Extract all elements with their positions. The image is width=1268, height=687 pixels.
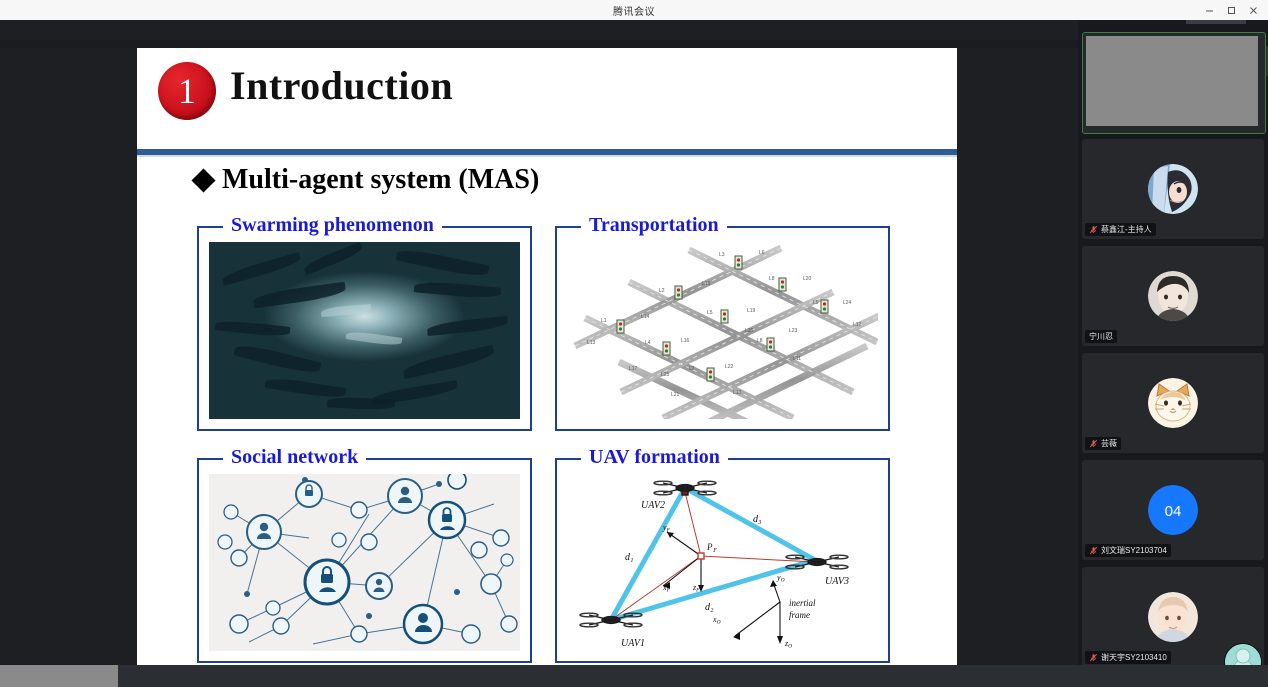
avatar-initials-text: 04 [1165, 503, 1182, 520]
window-controls [1198, 0, 1264, 20]
panel-title-swarming: Swarming phenomenon [223, 214, 442, 237]
bullet-row: Multi-agent system (MAS) [195, 164, 539, 196]
avatar-initials: 04 [1148, 485, 1198, 535]
tile-participant-1[interactable]: 蔡鑫江-主持人 [1082, 139, 1264, 239]
name-chip: 芸薇 [1085, 437, 1121, 450]
svg-text:L3: L3 [719, 252, 725, 258]
header-rule-light [137, 155, 957, 157]
svg-text:L21: L21 [671, 392, 680, 398]
shared-slide: 1 Introduction Multi-agent system (MAS) [137, 48, 957, 678]
svg-text:L7: L7 [689, 366, 695, 372]
svg-text:L11: L11 [793, 356, 801, 362]
panel-swarming-body [209, 242, 520, 419]
panel-social [197, 458, 532, 663]
mic-muted-icon [1089, 439, 1098, 448]
avatar [1148, 164, 1198, 214]
svg-text:L13: L13 [587, 340, 596, 346]
svg-text:L26: L26 [745, 328, 754, 334]
participant-name: 谢天宇SY2103410 [1101, 652, 1167, 663]
svg-text:L16: L16 [681, 338, 690, 344]
tile-participant-4[interactable]: 04 刘文瑞SY2103704 [1082, 460, 1264, 560]
svg-text:L6: L6 [759, 250, 765, 256]
svg-text:L4: L4 [645, 340, 651, 346]
svg-text:L9: L9 [813, 300, 819, 306]
svg-text:L8: L8 [769, 276, 775, 282]
close-icon[interactable] [1242, 0, 1264, 20]
maximize-icon[interactable] [1220, 0, 1242, 20]
yf-label: yF [662, 523, 671, 534]
svg-text:L24: L24 [843, 300, 852, 306]
svg-text:L10: L10 [733, 390, 742, 396]
panel-social-body [209, 474, 520, 651]
panel-title-social: Social network [223, 446, 366, 469]
svg-text:L8: L8 [757, 338, 763, 344]
bottom-bar [0, 665, 1268, 687]
d1-label: d₁ [625, 552, 633, 563]
tile-participant-3[interactable]: 芸薇 [1082, 353, 1264, 453]
stage-top-strip [0, 40, 1078, 48]
svg-text:L5: L5 [707, 310, 713, 316]
panel-grid: Swarming phenomenon [197, 206, 897, 661]
panel-uav: UAV2 UAV1 UAV3 d₁ d₂ d₃ P F xF yF zF [555, 458, 890, 663]
inertial-frame-label-line2: frame [789, 610, 810, 620]
svg-text:L17: L17 [629, 366, 638, 372]
mic-muted-icon [1089, 225, 1098, 234]
tile-participant-2[interactable]: 宁川忍 [1082, 246, 1264, 346]
rail-scroll-indicator[interactable] [1186, 20, 1246, 24]
name-chip: 谢天宇SY2103410 [1085, 651, 1171, 664]
svg-text:L23: L23 [789, 328, 798, 334]
slide-header: 1 Introduction [137, 48, 957, 154]
mic-muted-icon [1089, 546, 1098, 555]
avatar [1148, 378, 1198, 428]
tencent-meeting-window: 腾讯会议 1 Introduction M [0, 0, 1268, 687]
uav3-label: UAV3 [825, 576, 849, 587]
svg-text:L2: L2 [659, 288, 665, 294]
inertial-frame-label-line1: inertial [789, 598, 816, 608]
svg-text:L14: L14 [641, 314, 650, 320]
bullet-text: Multi-agent system (MAS) [222, 164, 539, 196]
participant-name: 刘文瑞SY2103704 [1101, 545, 1167, 556]
participant-name: 宁川忍 [1089, 331, 1113, 342]
tile-shared-screen[interactable] [1082, 32, 1266, 134]
fish-school-image [209, 242, 520, 419]
pf-label: P F [706, 542, 717, 554]
xo-label: xO [712, 615, 721, 626]
mic-muted-icon [1089, 653, 1098, 662]
svg-text:L20: L20 [803, 276, 812, 282]
window-title: 腾讯会议 [613, 3, 655, 18]
d2-label: d₂ [705, 602, 714, 613]
zo-label: zO [784, 639, 792, 650]
minimize-icon[interactable] [1198, 0, 1220, 20]
slide-title: Introduction [230, 62, 453, 109]
avatar [1148, 271, 1198, 321]
title-bar: 腾讯会议 [0, 0, 1268, 20]
panel-transportation-body: L3L6 L15L8L20 L2L19L9L24 L14L5L12 L1L26L… [567, 242, 878, 419]
section-number-badge: 1 [158, 62, 216, 120]
svg-text:L12: L12 [853, 322, 862, 328]
name-chip: 宁川忍 [1085, 330, 1117, 343]
svg-text:L1: L1 [601, 318, 607, 324]
uav1-label: UAV1 [621, 638, 645, 649]
zf-label: zF [692, 583, 700, 594]
meeting-stage: 1 Introduction Multi-agent system (MAS) [0, 20, 1078, 665]
name-chip: 蔡鑫江-主持人 [1085, 223, 1156, 236]
participant-rail: ⊢ 蔡鑫江-主持人 [1078, 20, 1268, 687]
panel-swarming [197, 226, 532, 431]
avatar [1148, 592, 1198, 642]
participant-name: 芸薇 [1101, 438, 1117, 449]
social-network-graph [209, 474, 520, 651]
panel-title-uav: UAV formation [581, 446, 728, 469]
svg-text:L22: L22 [725, 364, 734, 370]
panel-title-transportation: Transportation [581, 214, 727, 237]
panel-transportation: L3L6 L15L8L20 L2L19L9L24 L14L5L12 L1L26L… [555, 226, 890, 431]
panel-uav-body: UAV2 UAV1 UAV3 d₁ d₂ d₃ P F xF yF zF [567, 474, 878, 651]
yo-label: yO [776, 573, 785, 584]
svg-text:L19: L19 [747, 308, 756, 314]
uav-formation-diagram: UAV2 UAV1 UAV3 d₁ d₂ d₃ P F xF yF zF [567, 474, 878, 651]
screenshare-thumbnail [1086, 36, 1258, 126]
participant-name: 蔡鑫江-主持人 [1101, 224, 1152, 235]
name-chip: 刘文瑞SY2103704 [1085, 544, 1171, 557]
road-network-diagram: L3L6 L15L8L20 L2L19L9L24 L14L5L12 L1L26L… [567, 242, 878, 419]
taskbar-thumbnail[interactable] [0, 665, 118, 687]
uav2-label: UAV2 [641, 500, 665, 511]
svg-text:L25: L25 [661, 372, 670, 378]
d3-label: d₃ [753, 514, 762, 525]
svg-text:L15: L15 [702, 281, 711, 287]
diamond-bullet-icon [191, 168, 215, 192]
